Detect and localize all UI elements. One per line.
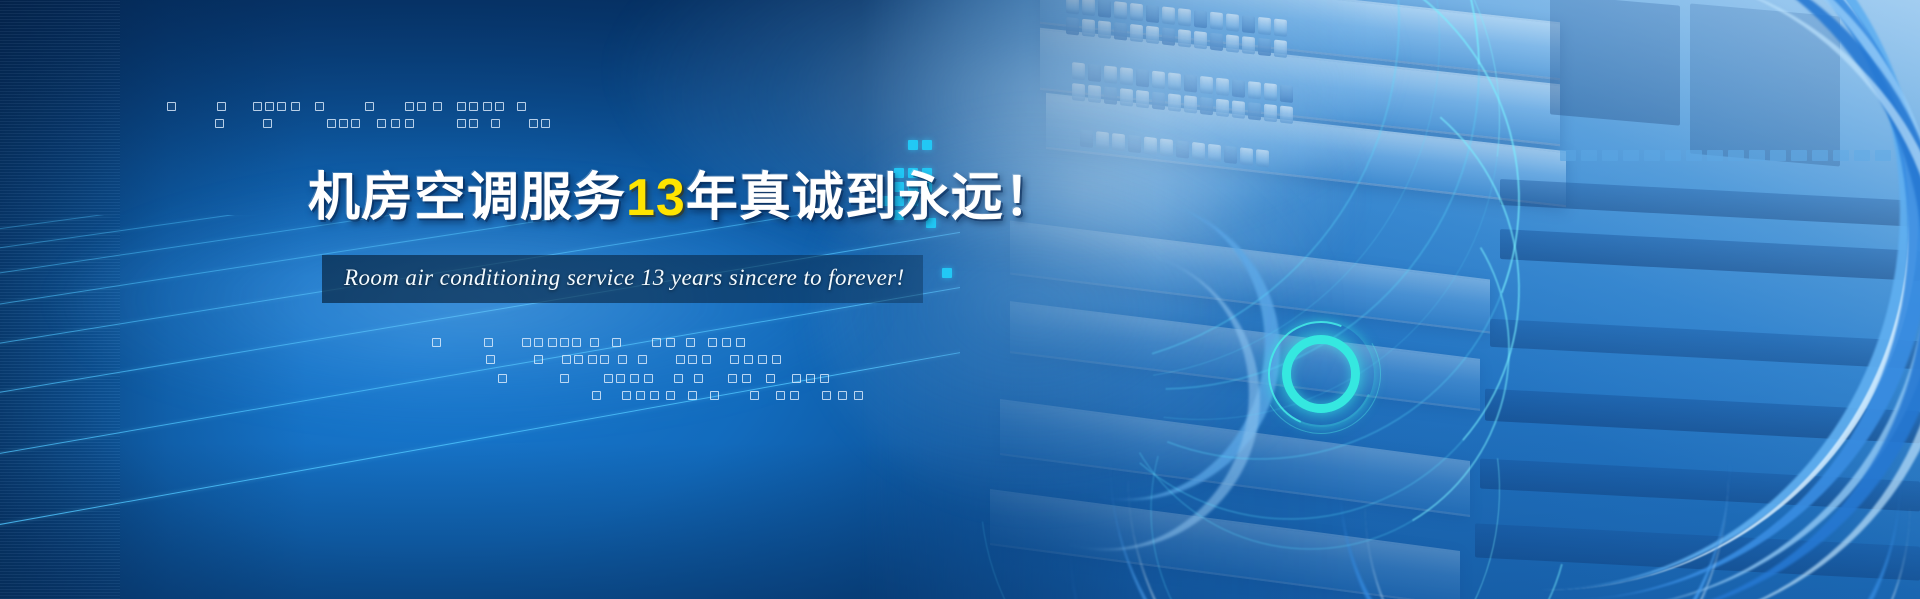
pattern-square: [391, 119, 400, 128]
pattern-square: [405, 119, 414, 128]
pattern-square: [744, 355, 753, 364]
pattern-square: [541, 119, 550, 128]
pattern-square: [666, 338, 675, 347]
pattern-square: [636, 391, 645, 400]
pattern-square: [730, 355, 739, 364]
pattern-square: [498, 374, 507, 383]
pattern-square: [616, 374, 625, 383]
pattern-square: [469, 102, 478, 111]
pattern-square: [517, 102, 526, 111]
banner-subtitle: Room air conditioning service 13 years s…: [344, 265, 905, 291]
pattern-square: [315, 102, 324, 111]
pattern-square: [792, 374, 801, 383]
pattern-square: [572, 338, 581, 347]
pattern-square: [644, 374, 653, 383]
hero-banner: 机房空调服务13年真诚到永远！ Room air conditioning se…: [0, 0, 1920, 599]
pattern-square: [612, 338, 621, 347]
pattern-square: [722, 338, 731, 347]
pattern-square: [405, 102, 414, 111]
pattern-square: [560, 374, 569, 383]
pattern-square: [291, 102, 300, 111]
pattern-square: [534, 338, 543, 347]
headline-suffix: 年真诚到永远！: [686, 169, 1057, 227]
pattern-square: [588, 355, 597, 364]
pattern-square: [277, 102, 286, 111]
pattern-square: [592, 391, 601, 400]
pattern-square: [548, 338, 557, 347]
pattern-square: [215, 119, 224, 128]
pattern-square: [728, 374, 737, 383]
headline-number: 13: [626, 169, 686, 227]
pattern-square: [457, 102, 466, 111]
pattern-square: [604, 374, 613, 383]
pattern-square: [522, 338, 531, 347]
pattern-square: [806, 374, 815, 383]
pattern-square: [838, 391, 847, 400]
pattern-square: [688, 391, 697, 400]
pattern-square: [674, 374, 683, 383]
pattern-square: [820, 374, 829, 383]
pattern-square: [327, 119, 336, 128]
pattern-square: [433, 102, 442, 111]
pattern-square: [377, 119, 386, 128]
pattern-square: [560, 338, 569, 347]
pattern-square: [742, 374, 751, 383]
pattern-square: [708, 338, 717, 347]
pattern-square: [217, 102, 226, 111]
pattern-square: [758, 355, 767, 364]
pattern-square: [688, 355, 697, 364]
pattern-square: [351, 119, 360, 128]
pattern-square: [772, 355, 781, 364]
pattern-square: [457, 119, 466, 128]
pattern-square: [676, 355, 685, 364]
pattern-square: [432, 338, 441, 347]
pattern-square: [710, 391, 719, 400]
pattern-square: [908, 140, 918, 150]
server-rack-photo: [860, 0, 1920, 599]
pattern-square: [484, 338, 493, 347]
pattern-square: [686, 338, 695, 347]
pattern-square: [942, 268, 952, 278]
pattern-square: [652, 338, 661, 347]
pattern-square: [265, 102, 274, 111]
pattern-square: [822, 391, 831, 400]
pattern-square: [750, 391, 759, 400]
pattern-square: [666, 391, 675, 400]
pattern-square: [486, 355, 495, 364]
pattern-square: [365, 102, 374, 111]
banner-headline: 机房空调服务13年真诚到永远！: [308, 172, 1057, 224]
pattern-square: [630, 374, 639, 383]
pattern-square: [766, 374, 775, 383]
pattern-square: [469, 119, 478, 128]
headline-prefix: 机房空调服务: [308, 169, 626, 227]
pattern-square: [638, 355, 647, 364]
pattern-square: [574, 355, 583, 364]
pattern-square: [922, 140, 932, 150]
pattern-square: [491, 119, 500, 128]
pattern-square: [650, 391, 659, 400]
pattern-square: [529, 119, 538, 128]
pattern-square: [776, 391, 785, 400]
pattern-square: [417, 102, 426, 111]
pattern-square: [694, 374, 703, 383]
pattern-square: [495, 102, 504, 111]
pattern-square: [600, 355, 609, 364]
pattern-square: [483, 102, 492, 111]
banner-subtitle-box: Room air conditioning service 13 years s…: [322, 255, 923, 303]
pattern-square: [253, 102, 262, 111]
pattern-square: [167, 102, 176, 111]
pattern-square: [534, 355, 543, 364]
square-data-pattern-top: [165, 100, 585, 136]
pattern-square: [622, 391, 631, 400]
pattern-square: [702, 355, 711, 364]
pattern-square: [618, 355, 627, 364]
square-data-pattern-bottom: [430, 336, 910, 396]
pattern-square: [339, 119, 348, 128]
pattern-square: [854, 391, 863, 400]
pattern-square: [736, 338, 745, 347]
pattern-square: [590, 338, 599, 347]
pattern-square: [790, 391, 799, 400]
pattern-square: [562, 355, 571, 364]
pattern-square: [263, 119, 272, 128]
